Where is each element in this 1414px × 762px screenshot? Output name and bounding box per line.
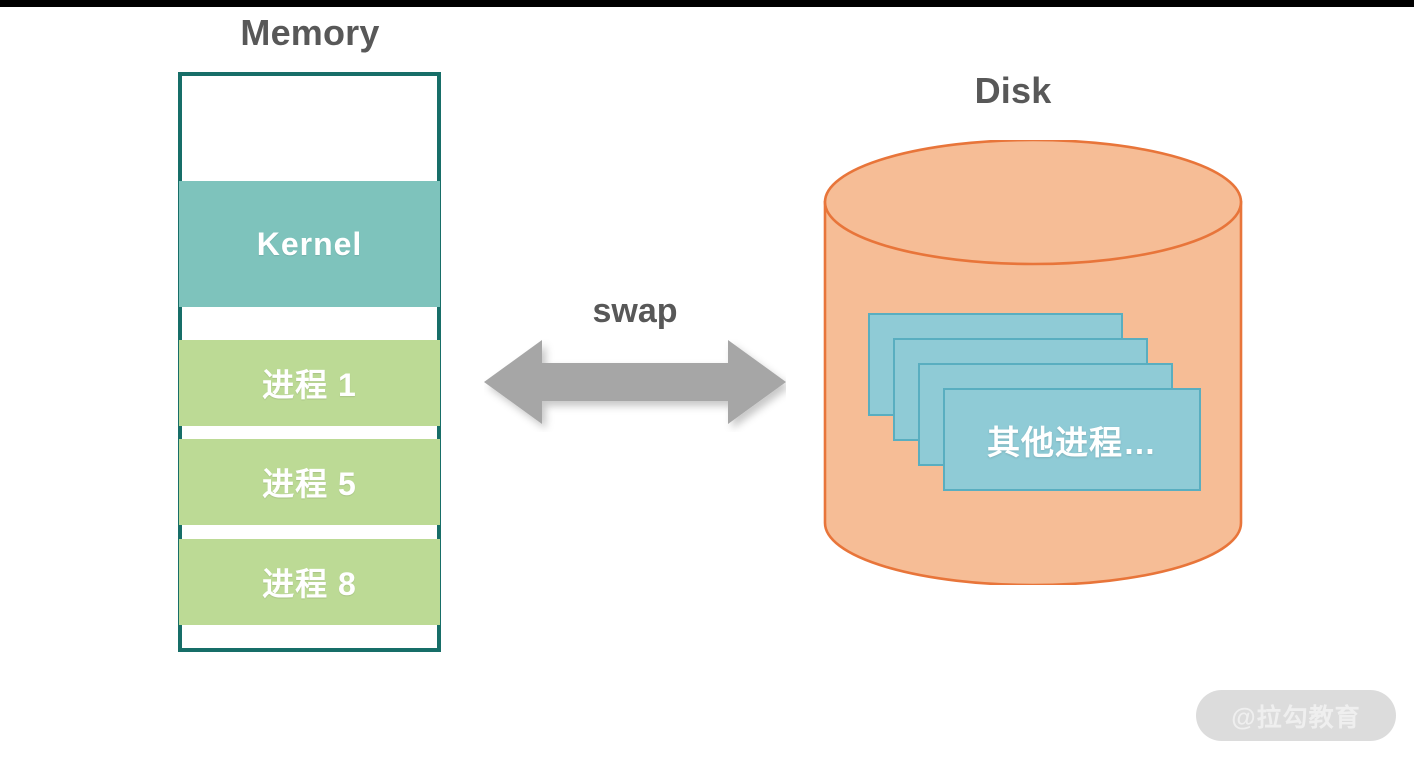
watermark-text: @拉勾教育 bbox=[1231, 698, 1360, 734]
memory-title: Memory bbox=[130, 12, 490, 54]
diagram-canvas: Memory Kernel 进程 1 进程 5 进程 8 swap Disk 其… bbox=[0, 0, 1414, 762]
memory-block-process-8: 进程 8 bbox=[179, 539, 440, 625]
memory-block-process-1-label: 进程 1 bbox=[262, 360, 357, 406]
swap-label: swap bbox=[520, 292, 750, 331]
disk-process-card-4: 其他进程… bbox=[943, 388, 1201, 491]
disk-process-card-4-label: 其他进程… bbox=[987, 416, 1157, 464]
memory-block-process-5: 进程 5 bbox=[179, 439, 440, 525]
memory-block-kernel-label: Kernel bbox=[257, 226, 363, 263]
memory-block-process-8-label: 进程 8 bbox=[262, 559, 357, 605]
memory-block-process-5-label: 进程 5 bbox=[262, 459, 357, 505]
disk-title: Disk bbox=[833, 70, 1193, 112]
memory-block-process-1: 进程 1 bbox=[179, 340, 440, 426]
watermark-badge: @拉勾教育 bbox=[1196, 690, 1396, 741]
memory-block-kernel: Kernel bbox=[179, 181, 440, 307]
swap-double-arrow-icon bbox=[484, 332, 786, 432]
